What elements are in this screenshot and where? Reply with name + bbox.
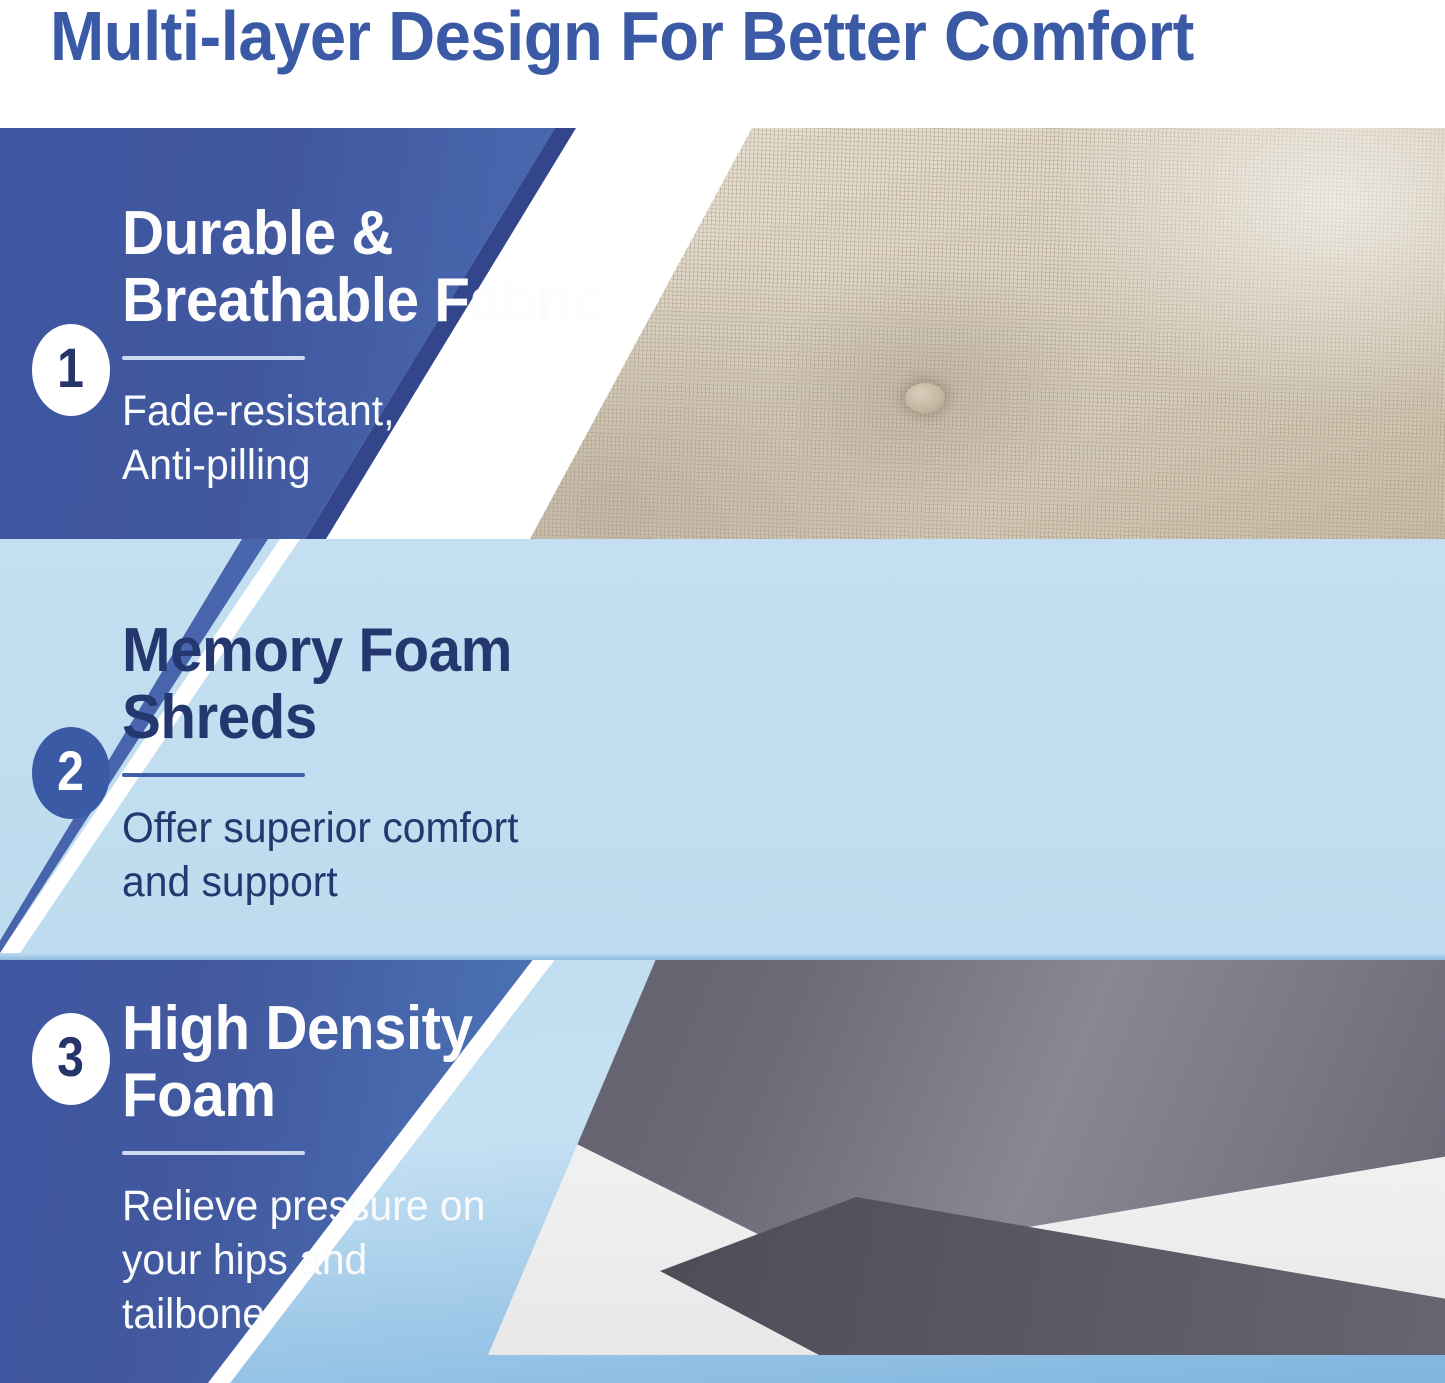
step-badge-1: 1 <box>32 324 110 416</box>
page-title: Multi-layer Design For Better Comfort <box>50 0 1315 76</box>
feature-section-3: 3 High Density Foam Relieve pressure on … <box>0 953 1445 1383</box>
feature-subtext-3: Relieve pressure on your hips and tailbo… <box>122 1179 654 1341</box>
section-top-hairline-3 <box>0 953 1445 960</box>
feature-text-block-2: Memory Foam Shreds Offer superior comfor… <box>122 617 742 909</box>
feature-heading-1: Durable & Breathable Fabric <box>122 200 686 334</box>
step-number-3: 3 <box>58 1029 85 1085</box>
step-number-1: 1 <box>58 340 85 396</box>
fabric-button-tuft <box>905 383 945 413</box>
feature-text-block-1: Durable & Breathable Fabric Fade-resista… <box>122 200 722 492</box>
step-badge-3: 3 <box>32 1013 110 1105</box>
feature-subtext-1: Fade-resistant, Anti-pilling <box>122 384 692 492</box>
step-number-2: 2 <box>58 743 85 799</box>
feature-heading-3: High Density Foam <box>122 995 648 1129</box>
divider-rule-2 <box>122 773 305 777</box>
feature-text-block-3: High Density Foam Relieve pressure on yo… <box>122 995 682 1341</box>
divider-rule-1 <box>122 356 305 360</box>
infographic-root: Multi-layer Design For Better Comfort 1 … <box>0 0 1445 1383</box>
feature-section-1: 1 Durable & Breathable Fabric Fade-resis… <box>0 128 1445 539</box>
divider-rule-3 <box>122 1151 305 1155</box>
feature-heading-2: Memory Foam Shreds <box>122 617 705 751</box>
feature-subtext-2: Offer superior comfort and support <box>122 801 711 909</box>
feature-section-2: 2 Memory Foam Shreds Offer superior comf… <box>0 539 1445 953</box>
title-bar: Multi-layer Design For Better Comfort <box>0 0 1445 128</box>
step-badge-2: 2 <box>32 727 110 819</box>
